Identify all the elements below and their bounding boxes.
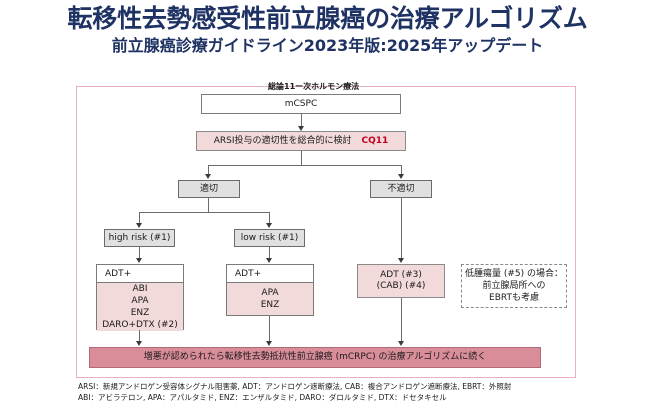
drug-item: APA [261,287,278,299]
note-line: EBRTも考慮 [489,292,539,304]
cq11-tag: CQ11 [362,136,389,147]
arrowhead-outcome-1 [136,341,142,346]
arrowhead-outcome-3 [398,341,404,346]
drug-item: DARO+DTX (#2) [102,319,178,331]
node-adt-plus-low-risk-body: APA ENZ [227,282,313,315]
section-label: 総論11ー次ホルモン療法 [268,81,359,92]
arrowhead-outcome-2 [266,341,272,346]
node-outcome-bar[interactable]: 増悪が認められたら転移性去勢抵抗性前立腺癌 (mCRPC) の治療アルゴリズムに… [89,347,541,368]
connector-adt-low-to-outcome [269,316,270,342]
node-branch-suitable-label: 適切 [200,184,218,195]
node-adt-alone[interactable]: ADT (#3) (CAB) (#4) [357,264,445,298]
connector-suitable-down [208,198,209,212]
drug-item: ENZ [261,299,280,311]
node-mcspc[interactable]: mCSPC [201,94,401,114]
connector-unsuitable-down [401,198,402,259]
node-branch-unsuitable-label: 不適切 [387,184,414,195]
arrowhead-to-adt-high [136,258,142,263]
arrowhead-to-low-risk [266,223,272,228]
arrowhead-to-suitable [205,174,211,179]
node-adt-plus-low-risk[interactable]: ADT+ APA ENZ [226,264,314,316]
node-adt-alone-line: ADT (#3) [380,270,422,281]
note-line: 前立腺局所への [482,280,545,292]
node-low-risk-label: low risk (#1) [241,233,298,244]
footnotes: ARSI：新規アンドロゲン受容体シグナル阻害薬, ADT：アンドロゲン遮断療法,… [78,381,618,403]
node-high-risk-label: high risk (#1) [109,233,171,244]
drug-item: ABI [133,283,148,295]
title-block: 転移性去勢感受性前立腺癌の治療アルゴリズム 前立腺癌診療ガイドライン2023年版… [0,4,655,57]
node-adt-plus-high-risk[interactable]: ADT+ ABI APA ENZ DARO+DTX (#2) [96,264,184,330]
node-adt-plus-high-risk-body: ABI APA ENZ DARO+DTX (#2) [97,282,183,331]
node-branch-unsuitable[interactable]: 不適切 [370,180,432,198]
node-adt-plus-low-risk-header: ADT+ [227,265,313,282]
node-mcspc-label: mCSPC [285,99,317,110]
drug-item: ENZ [131,307,150,319]
note-box-low-volume: 低腫瘍量 (#5) の場合： 前立腺局所への EBRTも考慮 [461,264,567,308]
node-branch-suitable[interactable]: 適切 [178,180,240,198]
node-low-risk[interactable]: low risk (#1) [234,229,305,247]
page-subtitle: 前立腺癌診療ガイドライン2023年版:2025年アップデート [0,35,655,57]
node-outcome-bar-label: 増悪が認められたら転移性去勢抵抗性前立腺癌 (mCRPC) の治療アルゴリズムに… [144,352,487,363]
node-high-risk[interactable]: high risk (#1) [104,229,175,247]
arrowhead-to-adt-alone [398,258,404,263]
node-arsi-decision[interactable]: ARSI投与の適切性を総合的に検討 CQ11 [196,131,406,151]
note-line: 低腫瘍量 (#5) の場合： [465,268,563,280]
connector-adt-alone-to-outcome [401,298,402,342]
node-adt-plus-high-risk-header: ADT+ [97,265,183,282]
connector-split-horizontal [208,165,402,166]
page-title: 転移性去勢感受性前立腺癌の治療アルゴリズム [0,4,655,34]
node-arsi-decision-label: ARSI投与の適切性を総合的に検討 [214,136,352,147]
footnote-line-2: ABI：アビラテロン, APA：アパルタミド, ENZ：エンザルタミド, DAR… [78,392,618,403]
arrowhead-to-adt-low [266,258,272,263]
connector-arsi-down [301,151,302,165]
node-adt-alone-line: (CAB) (#4) [377,281,426,292]
footnote-line-1: ARSI：新規アンドロゲン受容体シグナル阻害薬, ADT：アンドロゲン遮断療法,… [78,381,618,392]
drug-item: APA [131,295,148,307]
arrowhead-to-unsuitable [398,174,404,179]
arrowhead-to-high-risk [136,223,142,228]
connector-risk-horizontal [139,212,270,213]
